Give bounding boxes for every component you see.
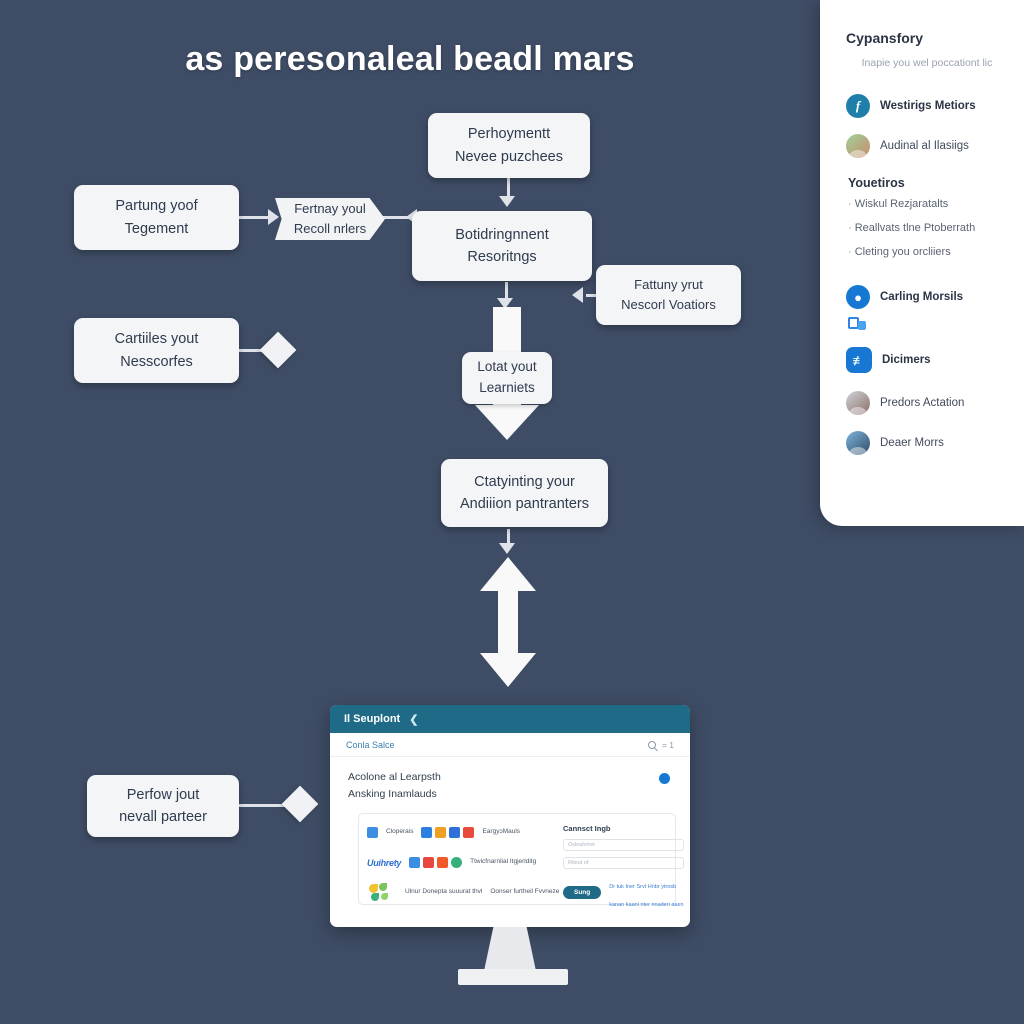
link-line-2: kanan kaani nter nnaderi aaen: [609, 902, 683, 908]
side-panel-row-westirigs[interactable]: f Westirigs Metiors: [846, 94, 1008, 118]
row-label: Predors Actation: [880, 397, 964, 409]
monitor-heading-2: Ansking Inamlauds: [348, 786, 672, 803]
node-line-2: Recoll nrlers: [294, 219, 366, 239]
form-footer: Sung Dr tuk Iner Srvt Hnbr ytrosb kanan …: [563, 875, 684, 911]
facebook-icon: f: [846, 94, 870, 118]
node-line-1: Fertnay youl: [294, 199, 366, 219]
side-panel-section-title: Youetiros: [848, 176, 1008, 190]
node-line-1: Fattuny yrut: [634, 275, 703, 295]
subnav-tools[interactable]: = 1: [648, 740, 674, 750]
side-panel-title: Cypansfory: [846, 30, 1008, 46]
monitor-subnav: Conla Salce = 1: [330, 733, 690, 757]
avatar-icon: [846, 134, 870, 158]
icon-row: Cloperais EargyɔMauls: [367, 822, 553, 844]
monitor-titlebar: Il Seuplont ❮: [330, 705, 690, 733]
monitor-content-card: Cloperais EargyɔMauls Uuihrety: [358, 813, 676, 905]
submit-button[interactable]: Sung: [563, 886, 601, 899]
flow-node-left-2[interactable]: Cartiiles yout Nesscorfes: [74, 318, 239, 383]
flow-node-arrow[interactable]: Lotat yout Learniets: [462, 352, 552, 404]
icon-label: Ulnur Donepta suuurat thvl: [405, 888, 482, 897]
app-icon: [437, 857, 448, 868]
flow-node-center[interactable]: Botidringnnent Resoritngs: [412, 211, 592, 281]
subnav-count: = 1: [662, 740, 674, 750]
flow-node-left-1[interactable]: Partung yoof Tegement: [74, 185, 239, 250]
app-icon-group[interactable]: [421, 827, 474, 838]
node-line-2: Resoritngs: [467, 246, 536, 268]
app-icon: [463, 827, 474, 838]
flow-node-banner[interactable]: Fertnay youl Recoll nrlers: [275, 198, 385, 240]
node-line-1: Perhoymentt: [468, 123, 550, 145]
icon-row: Ulnur Donepta suuurat thvl Oonser furthe…: [367, 882, 553, 904]
node-line-2: Andiiion pantranters: [460, 493, 589, 515]
monitor-heading-1: Acolone al Learpsth: [348, 769, 672, 786]
status-badge[interactable]: [659, 773, 670, 784]
avatar-icon: [846, 431, 870, 455]
flow-node-right[interactable]: Fattuny yrut Nescorl Voatiors: [596, 265, 741, 325]
icon-label: EargyɔMauls: [482, 828, 520, 837]
monitor-neck: [484, 927, 536, 971]
row-label: Dicimers: [882, 354, 931, 366]
form-help-link[interactable]: Dr tuk Iner Srvt Hnbr ytrosb kanan kaani…: [609, 875, 683, 911]
form-input-2[interactable]: Rlteut nf: [563, 857, 684, 869]
node-line-1: Partung yoof: [115, 195, 197, 217]
node-line-2: Nesscorfes: [120, 351, 193, 373]
node-line-1: Lotat yout: [477, 357, 536, 378]
monitor-base: [458, 969, 568, 985]
node-line-2: Nescorl Voatiors: [621, 295, 716, 315]
arrowhead-down-1: [499, 196, 515, 207]
node-line-1: Ctatyinting your: [474, 471, 575, 493]
droplet-icon: ●: [846, 285, 870, 309]
node-line-1: Botidringnnent: [455, 224, 549, 246]
arrowhead-down-3: [499, 543, 515, 554]
side-panel-bullet: Reallvats tlne Ptoberrath: [848, 222, 1008, 235]
node-line-2: Learniets: [479, 378, 535, 399]
connector-bottomleft-diamond: [239, 804, 285, 807]
app-icon: [421, 827, 432, 838]
side-panel-row-carling[interactable]: ● Carling Morsils: [846, 285, 1008, 309]
side-panel-row-deaer[interactable]: Deaer Morrs: [846, 431, 1008, 455]
back-icon[interactable]: ❮: [409, 713, 418, 726]
brand-label: Uuihrety: [367, 858, 401, 868]
app-icon: [435, 827, 446, 838]
decision-diamond-2: [282, 786, 319, 823]
node-line-1: Perfow jout: [127, 784, 200, 806]
avatar-icon: [846, 391, 870, 415]
row-label: Audinal al Ilasiigs: [880, 140, 969, 152]
app-icon-group[interactable]: [409, 857, 462, 868]
bank-icon: ≢: [846, 347, 872, 373]
icon-column: Cloperais EargyɔMauls Uuihrety: [367, 822, 553, 894]
big-double-arrow-icon: [480, 557, 536, 687]
flow-node-top[interactable]: Perhoymentt Nevee puzchees: [428, 113, 590, 178]
app-icon: [409, 857, 420, 868]
icon-label: Ttwicfnarnlial Itgjerlditg: [470, 858, 536, 867]
arrowhead-left-2: [572, 287, 583, 303]
side-panel-bullet: Wiskul Rezjaratalts: [848, 198, 1008, 211]
node-line-2: Nevee puzchees: [455, 146, 563, 168]
search-icon[interactable]: [648, 741, 656, 749]
app-icon: [449, 827, 460, 838]
subnav-link[interactable]: Conla Salce: [346, 740, 395, 750]
side-panel-row-predors[interactable]: Predors Actation: [846, 391, 1008, 415]
row-label: Deaer Morrs: [880, 437, 944, 449]
monitor-heading-area: Acolone al Learpsth Ansking Inamlauds: [330, 757, 690, 809]
login-form: Cannsct Ingb Osleahrhel Rlteut nf Sung D…: [559, 822, 688, 894]
monitor-title: Il Seuplont: [344, 713, 400, 725]
side-panel-subtitle: Inapie you wel poccationt lic: [846, 56, 1008, 72]
flow-node-bottom-left[interactable]: Perfow jout nevall parteer: [87, 775, 239, 837]
diagram-canvas: as peresonaleal beadl mars Perhoymentt: [0, 0, 1024, 1024]
row-label: Westirigs Metiors: [880, 100, 976, 112]
printer-icon: [848, 317, 866, 333]
decision-diamond-1: [260, 332, 297, 369]
icon-label: Cloperais: [386, 828, 413, 837]
side-panel-bullet: Cleting you orcliiers: [848, 246, 1008, 259]
arrowhead-right-1: [268, 209, 279, 225]
side-panel-row-audinal[interactable]: Audinal al Ilasiigs: [846, 134, 1008, 158]
form-label: Cannsct Ingb: [563, 824, 684, 833]
flow-node-lower[interactable]: Ctatyinting your Andiiion pantranters: [441, 459, 608, 527]
node-line-2: nevall parteer: [119, 806, 207, 828]
app-icon[interactable]: [367, 827, 378, 838]
icon-row: Uuihrety Ttwicfnarnlial Itgjerlditg: [367, 852, 553, 874]
page-title: as peresonaleal beadl mars: [0, 40, 820, 79]
app-icon: [451, 857, 462, 868]
form-input-1[interactable]: Osleahrhel: [563, 839, 684, 851]
app-icon: [423, 857, 434, 868]
monitor-mockup: Il Seuplont ❮ Conla Salce = 1 Acolone al…: [330, 705, 690, 927]
row-label: Carling Morsils: [880, 291, 963, 303]
link-line-1: Dr tuk Iner Srvt Hnbr ytrosb: [609, 884, 676, 890]
node-line-2: Tegement: [125, 218, 189, 240]
side-panel-row-dicimers[interactable]: ≢ Dicimers: [846, 347, 1008, 373]
side-panel: Cypansfory Inapie you wel poccationt lic…: [820, 0, 1024, 526]
icon-label: Oonser furtheil Fvvneze: [490, 888, 559, 897]
node-line-1: Cartiiles yout: [115, 328, 199, 350]
plant-icon: [367, 882, 397, 904]
